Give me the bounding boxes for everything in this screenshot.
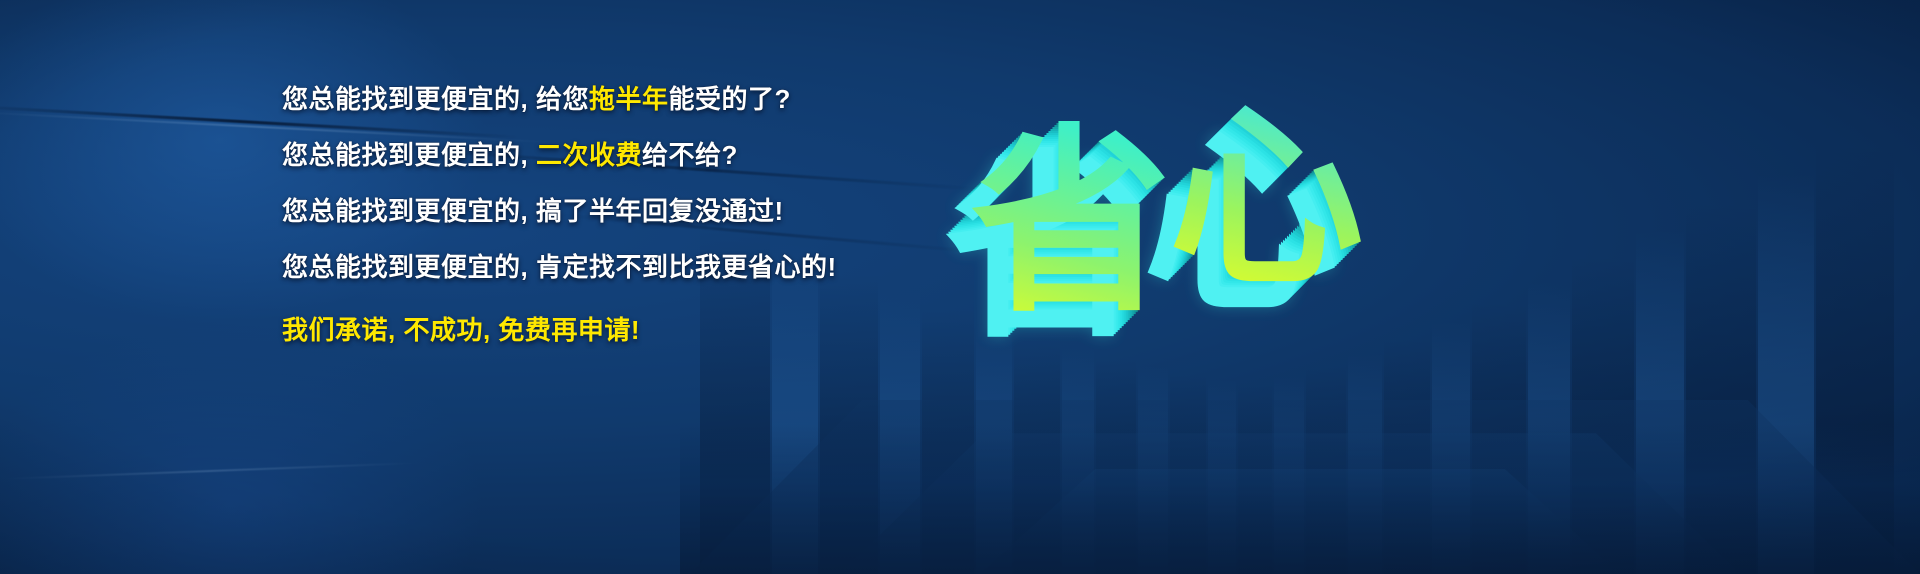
marketing-copy-block: 您总能找到更便宜的, 给您拖半年能受的了? 您总能找到更便宜的, 二次收费给不给… — [282, 86, 922, 347]
copy-line-1-suffix: 能受的了? — [668, 84, 790, 114]
copy-line-3-prefix: 您总能找到更便宜的, 搞了半年回复没通过! — [282, 196, 784, 226]
logo-char-1: 省 — [971, 112, 1171, 335]
shengxin-3d-logo: 省 心 省 省 省 省 省 省 省 省 省 省 省 省 省 心 心 — [915, 60, 1385, 390]
copy-line-3: 您总能找到更便宜的, 搞了半年回复没通过! — [282, 198, 922, 224]
copy-line-2-highlight: 二次收费 — [536, 140, 642, 170]
logo-char-2: 心 — [1169, 90, 1364, 308]
copy-line-4: 您总能找到更便宜的, 肯定找不到比我更省心的! — [282, 254, 922, 280]
copy-line-1-highlight: 拖半年 — [589, 84, 669, 114]
copy-line-2-prefix: 您总能找到更便宜的, — [282, 140, 536, 170]
copy-line-2-suffix: 给不给? — [642, 140, 738, 170]
copy-line-1-prefix: 您总能找到更便宜的, 给您 — [282, 84, 589, 114]
copy-line-4-prefix: 您总能找到更便宜的, 肯定找不到比我更省心的! — [282, 252, 837, 282]
promise-line: 我们承诺, 不成功, 免费再申请! — [282, 310, 922, 347]
copy-line-1: 您总能找到更便宜的, 给您拖半年能受的了? — [282, 86, 922, 112]
copy-line-2: 您总能找到更便宜的, 二次收费给不给? — [282, 142, 922, 168]
promo-banner: 您总能找到更便宜的, 给您拖半年能受的了? 您总能找到更便宜的, 二次收费给不给… — [0, 0, 1920, 574]
